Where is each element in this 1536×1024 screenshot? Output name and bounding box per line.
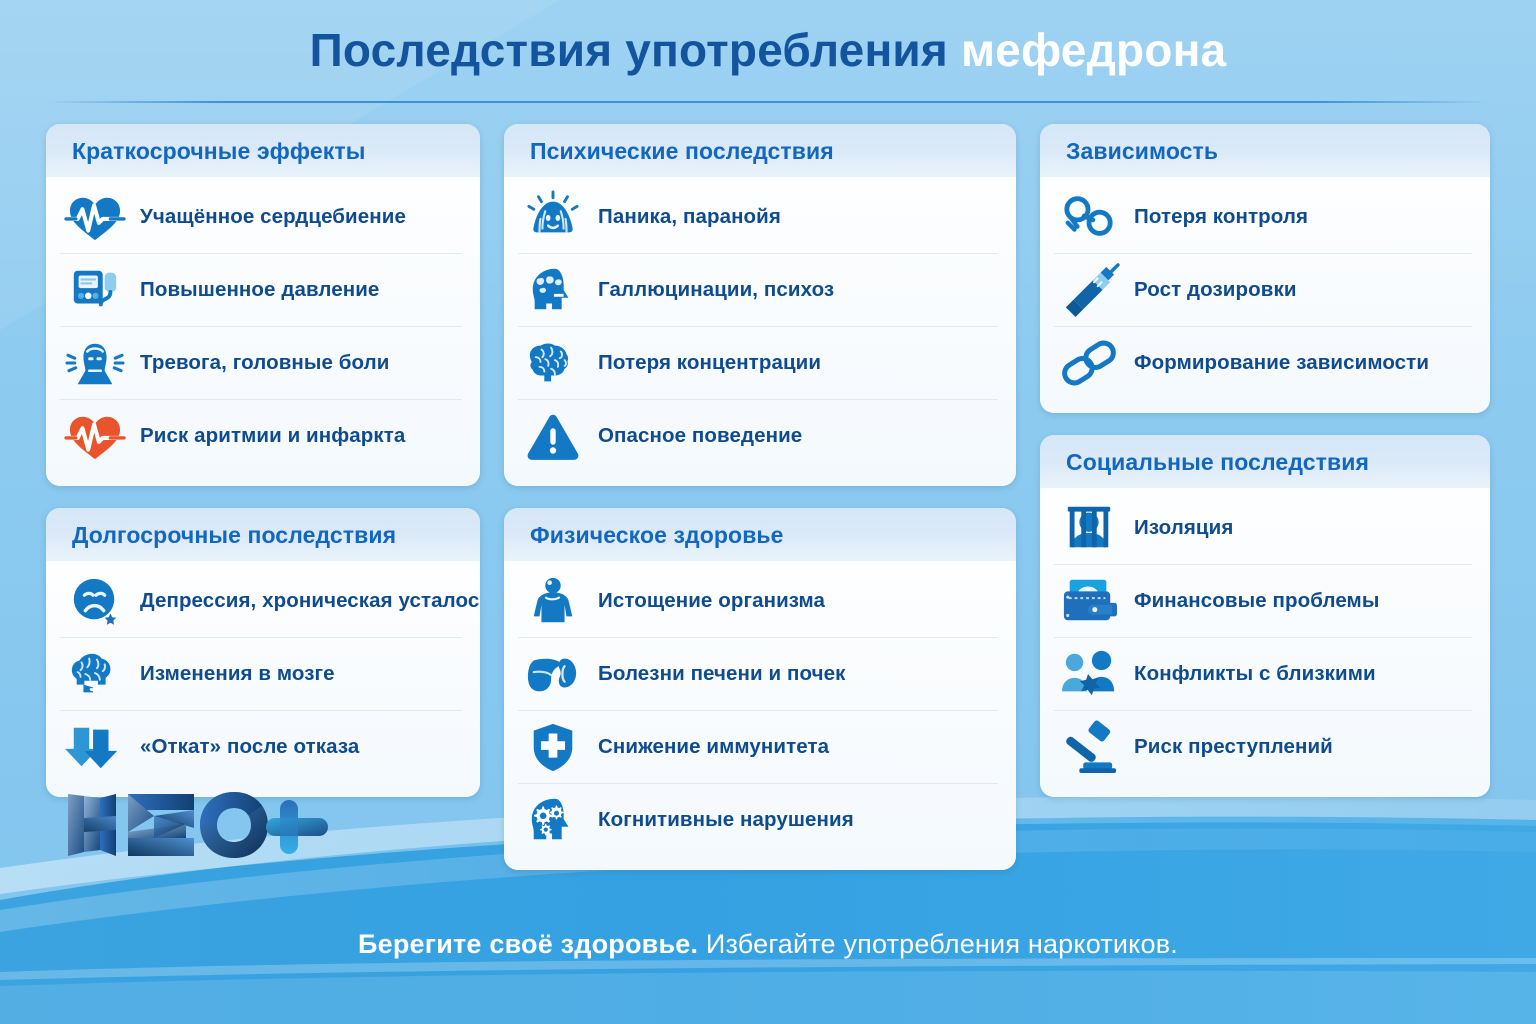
list-item-label: Опасное поведение xyxy=(598,424,802,448)
list-item[interactable]: Тревога, головные боли xyxy=(60,327,462,400)
card-social-consequences: Социальные последствия xyxy=(1040,435,1490,797)
list-item-label: Учащённое сердцебиение xyxy=(140,205,406,229)
list-item[interactable]: Формирование зависимости xyxy=(1054,327,1472,399)
card-header: Зависимость xyxy=(1040,124,1490,177)
card-body: Потеря контроля xyxy=(1040,177,1490,413)
list-item-label: «Откат» после отказа xyxy=(140,735,359,759)
list-item[interactable]: Галлюцинации, психоз xyxy=(518,254,998,327)
list-item[interactable]: Снижение иммунитета xyxy=(518,711,998,784)
card-title: Долгосрочные последствия xyxy=(72,522,456,549)
list-item-label: Потеря контроля xyxy=(1134,205,1308,229)
thin-person-icon xyxy=(522,574,584,628)
list-item[interactable]: Депрессия, хроническая усталость xyxy=(60,565,462,638)
card-body: Паника, паранойя Галлюцинации, пс xyxy=(504,177,1016,486)
column-right: Зависимость Потеря контроля xyxy=(1040,124,1490,819)
wallet-icon xyxy=(1058,574,1120,628)
heart-attack-icon xyxy=(64,409,126,463)
footer-message: Берегите своё здоровье. Избегайте употре… xyxy=(358,929,1178,960)
headache-person-icon xyxy=(64,336,126,390)
chain-link-icon xyxy=(1058,336,1120,390)
list-item[interactable]: Паника, паранойя xyxy=(518,181,998,254)
card-mental-consequences: Психические последствия xyxy=(504,124,1016,486)
neo-plus-logo xyxy=(62,786,342,864)
card-body: Изоляция xyxy=(1040,488,1490,797)
card-short-term-effects: Краткосрочные эффекты Учащённое сердце xyxy=(46,124,480,486)
list-item[interactable]: Изменения в мозге xyxy=(60,638,462,711)
column-left: Краткосрочные эффекты Учащённое сердце xyxy=(46,124,480,819)
list-item[interactable]: Истощение организма xyxy=(518,565,998,638)
list-item-label: Галлюцинации, психоз xyxy=(598,278,834,302)
list-item-label: Снижение иммунитета xyxy=(598,735,829,759)
page-title: Последствия употребления мефедрона xyxy=(0,23,1536,77)
footer-normal-text: Избегайте употребления наркотиков. xyxy=(698,929,1178,959)
list-item-label: Изоляция xyxy=(1134,516,1233,540)
card-dependence: Зависимость Потеря контроля xyxy=(1040,124,1490,413)
down-arrows-icon xyxy=(64,720,126,774)
card-physical-health: Физическое здоровье Истощение организма xyxy=(504,508,1016,870)
card-header: Физическое здоровье xyxy=(504,508,1016,561)
conflict-people-icon xyxy=(1058,647,1120,701)
shield-cross-icon xyxy=(522,720,584,774)
list-item-label: Паника, паранойя xyxy=(598,205,781,229)
card-title: Краткосрочные эффекты xyxy=(72,138,456,165)
list-item-label: Болезни печени и почек xyxy=(598,662,845,686)
list-item-label: Рост дозировки xyxy=(1134,278,1297,302)
list-item-label: Риск преступлений xyxy=(1134,735,1333,759)
list-item-label: Когнитивные нарушения xyxy=(598,808,854,832)
brain-change-icon xyxy=(64,647,126,701)
list-item[interactable]: Рост дозировки xyxy=(1054,254,1472,327)
card-title: Социальные последствия xyxy=(1066,449,1466,476)
list-item[interactable]: Риск преступлений xyxy=(1054,711,1472,783)
list-item[interactable]: Болезни печени и почек xyxy=(518,638,998,711)
card-title: Зависимость xyxy=(1066,138,1466,165)
list-item-label: Изменения в мозге xyxy=(140,662,335,686)
sad-face-icon xyxy=(64,574,126,628)
list-item-label: Повышенное давление xyxy=(140,278,379,302)
list-item[interactable]: Финансовые проблемы xyxy=(1054,565,1472,638)
warning-triangle-icon xyxy=(522,409,584,463)
footer-banner: Берегите своё здоровье. Избегайте употре… xyxy=(0,908,1536,980)
list-item[interactable]: Опасное поведение xyxy=(518,400,998,472)
hallucination-head-icon xyxy=(522,263,584,317)
brain-icon xyxy=(522,336,584,390)
card-header: Социальные последствия xyxy=(1040,435,1490,488)
list-item-label: Формирование зависимости xyxy=(1134,351,1429,375)
page-title-accent: мефедрона xyxy=(961,24,1226,76)
list-item[interactable]: Повышенное давление xyxy=(60,254,462,327)
panic-face-icon xyxy=(522,190,584,244)
card-body: Истощение организма Болезни печени и поч… xyxy=(504,561,1016,870)
list-item[interactable]: «Откат» после отказа xyxy=(60,711,462,783)
card-header: Краткосрочные эффекты xyxy=(46,124,480,177)
card-body: Учащённое сердцебиение xyxy=(46,177,480,486)
syringe-icon xyxy=(1058,263,1120,317)
footer-bold-text: Берегите своё здоровье. xyxy=(358,929,698,959)
heart-pulse-icon xyxy=(64,190,126,244)
list-item[interactable]: Потеря концентрации xyxy=(518,327,998,400)
list-item-label: Истощение организма xyxy=(598,589,825,613)
list-item[interactable]: Риск аритмии и инфаркта xyxy=(60,400,462,472)
list-item[interactable]: Потеря контроля xyxy=(1054,181,1472,254)
list-item[interactable]: Учащённое сердцебиение xyxy=(60,181,462,254)
list-item[interactable]: Изоляция xyxy=(1054,492,1472,565)
list-item-label: Конфликты с близкими xyxy=(1134,662,1376,686)
head-gears-icon xyxy=(522,793,584,847)
handcuffs-icon xyxy=(1058,190,1120,244)
list-item-label: Тревога, головные боли xyxy=(140,351,390,375)
prison-bars-icon xyxy=(1058,501,1120,555)
card-body: Депрессия, хроническая усталость xyxy=(46,561,480,797)
card-header: Долгосрочные последствия xyxy=(46,508,480,561)
page-title-primary: Последствия употребления xyxy=(310,24,961,76)
card-title: Психические последствия xyxy=(530,138,992,165)
list-item-label: Депрессия, хроническая усталость xyxy=(140,589,480,613)
list-item-label: Финансовые проблемы xyxy=(1134,589,1379,613)
column-center: Психические последствия xyxy=(504,124,1016,892)
card-long-term-consequences: Долгосрочные последствия Депрессия, хрон… xyxy=(46,508,480,797)
blood-pressure-monitor-icon xyxy=(64,263,126,317)
card-title: Физическое здоровье xyxy=(530,522,992,549)
list-item[interactable]: Конфликты с близкими xyxy=(1054,638,1472,711)
card-header: Психические последствия xyxy=(504,124,1016,177)
gavel-icon xyxy=(1058,720,1120,774)
title-divider xyxy=(55,101,1481,103)
list-item-label: Риск аритмии и инфаркта xyxy=(140,424,405,448)
list-item[interactable]: Когнитивные нарушения xyxy=(518,784,998,856)
list-item-label: Потеря концентрации xyxy=(598,351,821,375)
liver-kidney-icon xyxy=(522,647,584,701)
